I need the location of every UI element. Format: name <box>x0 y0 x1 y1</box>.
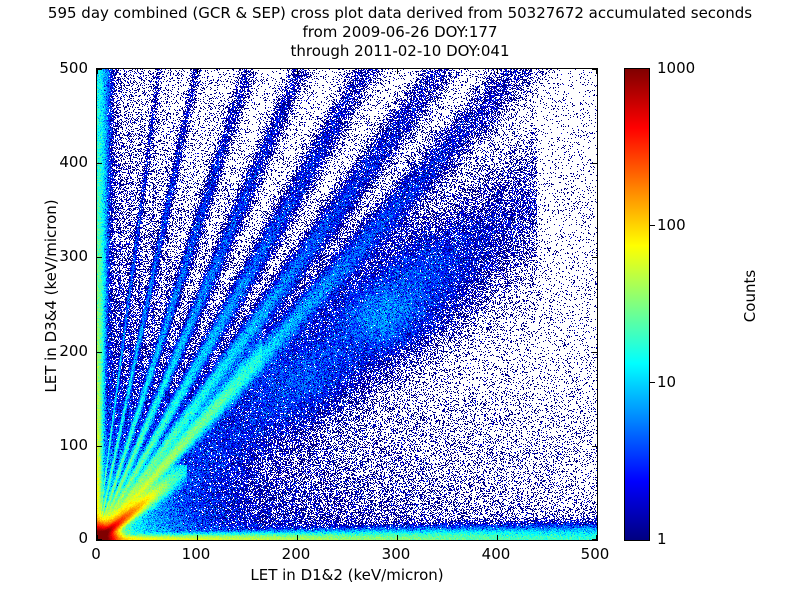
figure-title: 595 day combined (GCR & SEP) cross plot … <box>0 4 800 61</box>
y-tick-label-300: 300 <box>59 247 88 265</box>
y-tick-400 <box>97 163 102 164</box>
y-tick-200 <box>592 352 597 353</box>
x-tick-400 <box>497 69 498 74</box>
y-tick-label-400: 400 <box>59 153 88 171</box>
colorbar-tick-100 <box>650 225 655 226</box>
x-tick-label-200: 200 <box>282 545 311 563</box>
y-tick-500 <box>592 69 597 70</box>
y-tick-100 <box>592 446 597 447</box>
y-tick-300 <box>97 257 102 258</box>
x-tick-300 <box>397 535 398 540</box>
colorbar-tick-label-10: 10 <box>657 373 676 391</box>
y-tick-label-500: 500 <box>59 59 88 77</box>
y-tick-200 <box>97 352 102 353</box>
x-tick-label-300: 300 <box>382 545 411 563</box>
y-tick-500 <box>97 69 102 70</box>
plot-area <box>96 68 598 541</box>
x-tick-300 <box>397 69 398 74</box>
x-tick-100 <box>197 535 198 540</box>
x-axis-label: LET in D1&2 (keV/micron) <box>96 566 598 584</box>
colorbar <box>624 68 650 541</box>
y-tick-100 <box>97 446 102 447</box>
x-tick-200 <box>297 69 298 74</box>
colorbar-tick-10 <box>650 382 655 383</box>
x-tick-label-100: 100 <box>182 545 211 563</box>
x-tick-100 <box>197 69 198 74</box>
y-axis-label: LET in D3&4 (keV/micron) <box>42 45 60 547</box>
colorbar-label: Counts <box>741 146 759 446</box>
y-tick-400 <box>592 163 597 164</box>
y-tick-0 <box>592 539 597 540</box>
y-tick-label-0: 0 <box>78 529 88 547</box>
colorbar-tick-label-100: 100 <box>657 216 686 234</box>
colorbar-tick-label-1: 1 <box>657 530 667 548</box>
colorbar-gradient <box>625 69 649 540</box>
y-tick-0 <box>97 539 102 540</box>
y-tick-300 <box>592 257 597 258</box>
x-tick-400 <box>497 535 498 540</box>
x-tick-label-500: 500 <box>581 545 610 563</box>
x-tick-label-400: 400 <box>482 545 511 563</box>
density-heatmap <box>97 69 597 540</box>
colorbar-tick-label-1000: 1000 <box>657 59 695 77</box>
title-line-2: from 2009-06-26 DOY:177 <box>0 23 800 42</box>
y-tick-label-100: 100 <box>59 436 88 454</box>
x-tick-200 <box>297 535 298 540</box>
title-line-1: 595 day combined (GCR & SEP) cross plot … <box>0 4 800 23</box>
x-tick-label-0: 0 <box>91 545 101 563</box>
figure-canvas: 595 day combined (GCR & SEP) cross plot … <box>0 0 800 600</box>
y-tick-label-200: 200 <box>59 342 88 360</box>
